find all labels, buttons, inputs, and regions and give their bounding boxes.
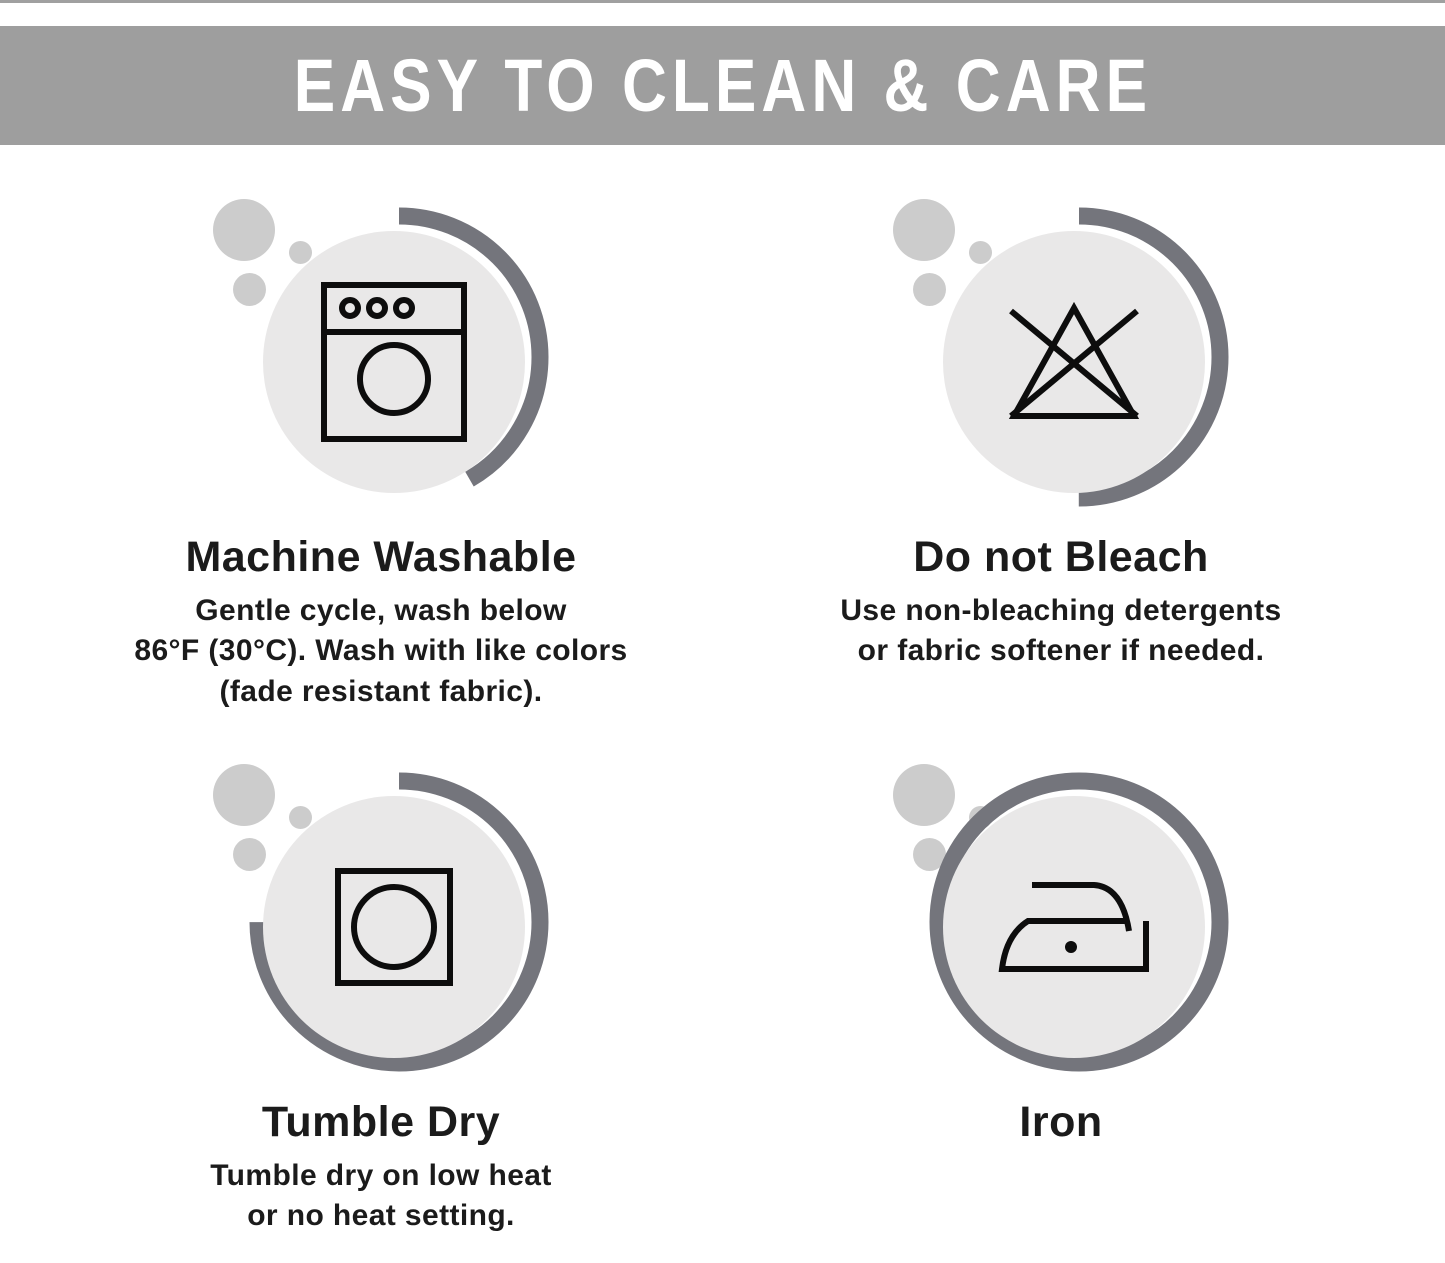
card-body-text: Gentle cycle, wash below 86°F (30°C). Wa… <box>51 591 711 712</box>
header-banner: EASY TO CLEAN & CARE <box>0 26 1445 145</box>
washing-machine-icon <box>263 231 525 493</box>
badge-tumble-dry <box>201 750 561 1090</box>
card-title: Do not Bleach <box>700 533 1422 581</box>
care-cards-grid: Machine Washable Gentle cycle, wash belo… <box>0 145 1445 1263</box>
top-divider-rule <box>0 0 1445 3</box>
badge-do-not-bleach <box>881 185 1241 525</box>
badge-machine-washable <box>201 185 561 525</box>
page-title: EASY TO CLEAN & CARE <box>293 49 1151 123</box>
card-title: Tumble Dry <box>20 1098 742 1146</box>
card-body-text: Use non-bleaching detergents or fabric s… <box>731 591 1391 671</box>
care-card-tumble-dry: Tumble Dry Tumble dry on low heat or no … <box>20 750 742 1237</box>
care-card-machine-washable: Machine Washable Gentle cycle, wash belo… <box>20 185 742 712</box>
badge-iron <box>881 750 1241 1090</box>
care-instructions-infographic: EASY TO CLEAN & CARE <box>0 0 1445 1263</box>
iron-icon <box>943 796 1205 1058</box>
card-title: Iron <box>700 1098 1422 1146</box>
card-body-text: Tumble dry on low heat or no heat settin… <box>101 1156 661 1236</box>
care-card-do-not-bleach: Do not Bleach Use non-bleaching detergen… <box>700 185 1422 672</box>
tumble-dry-icon <box>263 796 525 1058</box>
care-card-iron: Iron <box>700 750 1422 1156</box>
do-not-bleach-icon <box>943 231 1205 493</box>
card-title: Machine Washable <box>20 533 742 581</box>
